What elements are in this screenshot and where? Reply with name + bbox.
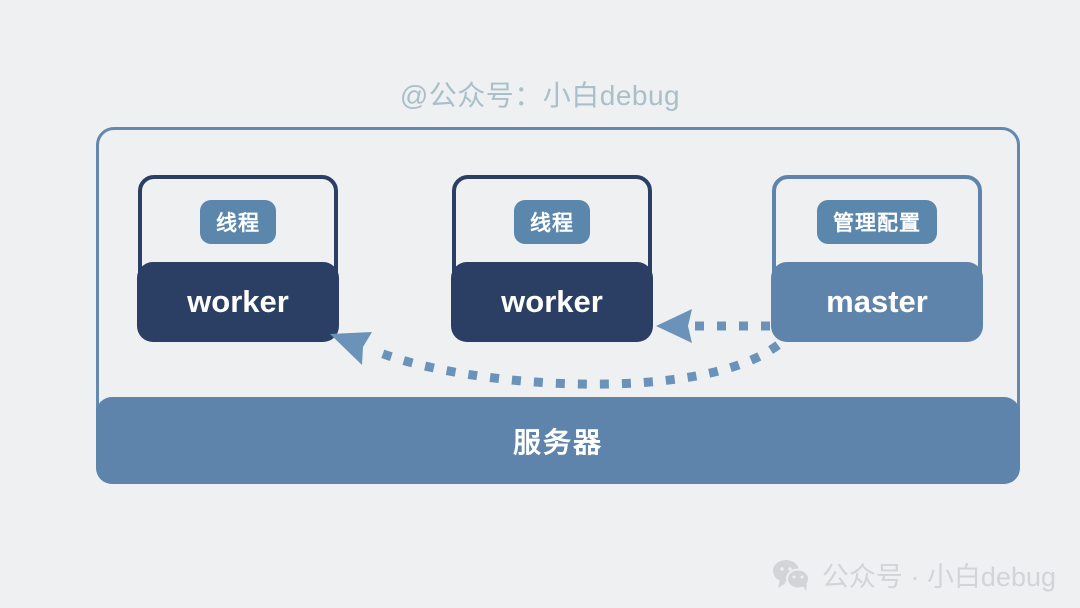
- server-bar: 服务器: [96, 397, 1020, 484]
- node-worker-1-body: worker: [137, 262, 339, 342]
- node-worker-1-top: 线程: [142, 179, 334, 265]
- diagram-canvas: @公众号：小白debug 线程 worker 线程 worker 管理配置 ma…: [0, 0, 1080, 608]
- node-worker-2[interactable]: 线程 worker: [452, 175, 652, 341]
- node-master[interactable]: 管理配置 master: [772, 175, 982, 341]
- node-master-label: master: [826, 284, 928, 320]
- node-worker-2-top: 线程: [456, 179, 648, 265]
- node-worker-2-body: worker: [451, 262, 653, 342]
- node-master-tag: 管理配置: [817, 200, 937, 244]
- node-worker-1-tag: 线程: [200, 200, 276, 244]
- brand-text: 公众号 · 小白debug: [822, 555, 1056, 594]
- node-master-body: master: [771, 262, 983, 342]
- wechat-icon: [772, 559, 810, 591]
- brand-footer: 公众号 · 小白debug: [772, 555, 1056, 594]
- node-worker-1[interactable]: 线程 worker: [138, 175, 338, 341]
- node-worker-1-label: worker: [187, 284, 289, 320]
- node-worker-2-tag: 线程: [514, 200, 590, 244]
- node-worker-2-label: worker: [501, 284, 603, 320]
- watermark-text: @公众号：小白debug: [0, 74, 1080, 114]
- server-bar-label: 服务器: [513, 421, 603, 461]
- node-master-top: 管理配置: [776, 179, 978, 265]
